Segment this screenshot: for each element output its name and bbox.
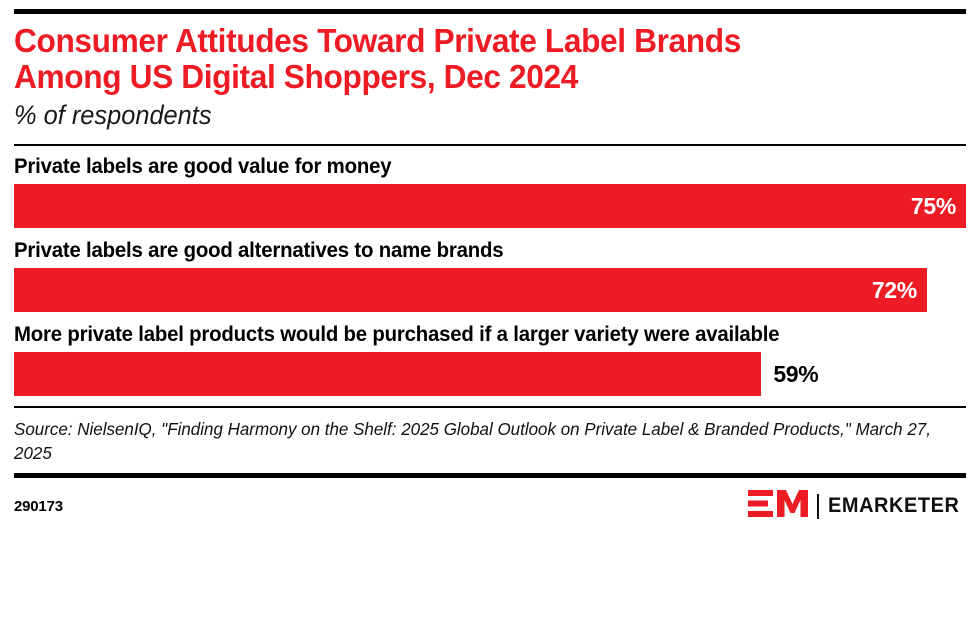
chart-id: 290173 [14,498,63,515]
bar-fill: 75% [14,184,966,228]
bar-fill: 72% [14,268,927,312]
bar-value-label: 59% [773,361,818,388]
bar-group: More private label products would be pur… [14,322,966,396]
bar-group: Private labels are good alternatives to … [14,238,966,312]
bar-chart-plot: Private labels are good value for money … [14,146,966,396]
bar-category-label: Private labels are good value for money [14,154,937,179]
bar-value-label: 75% [911,193,956,220]
em-logo-icon [748,490,808,522]
page-title: Consumer Attitudes Toward Private Label … [14,23,928,95]
bar-category-label: More private label products would be pur… [14,322,937,347]
header-spacer [14,132,966,144]
chart-subtitle: % of respondents [14,99,909,132]
brand-divider [817,494,819,519]
brand-lockup: EMARKETER [748,490,966,522]
brand-name: EMARKETER [828,494,959,518]
bar-fill [14,352,761,396]
bar-row: 75% [14,184,966,228]
bar-group: Private labels are good value for money … [14,154,966,228]
chart-card: Consumer Attitudes Toward Private Label … [0,9,980,637]
source-note: Source: NielsenIQ, "Finding Harmony on t… [14,408,937,473]
bar-category-label: Private labels are good alternatives to … [14,238,937,263]
chart-footer: 290173 EMARKETER [14,478,966,522]
chart-header: Consumer Attitudes Toward Private Label … [14,14,966,132]
bar-value-label: 72% [872,277,917,304]
bar-row: 59% [14,352,966,396]
bar-row: 72% [14,268,966,312]
